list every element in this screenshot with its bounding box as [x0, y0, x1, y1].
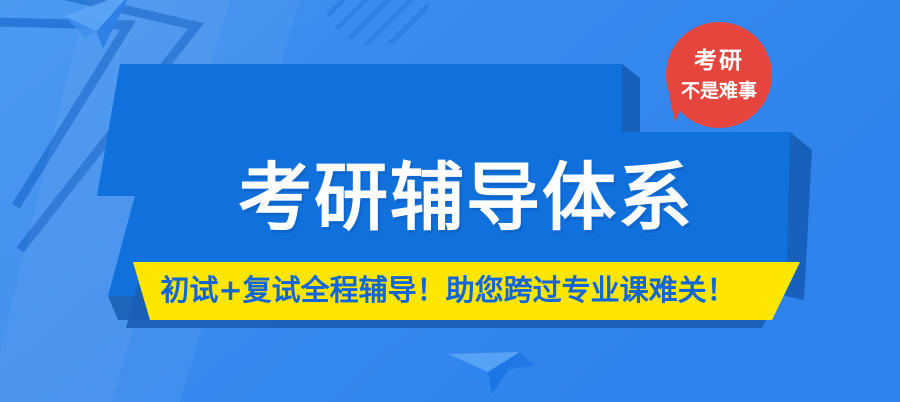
page-title: 考研辅导体系 [238, 161, 694, 235]
course-promo-banner: 考研辅导体系 初试+复试全程辅导！助您跨过专业课难关！ 考研 不是难事 [0, 0, 900, 402]
badge-line-1: 考研 [694, 50, 744, 73]
ribbon-text-container: 初试+复试全程辅导！助您跨过专业课难关！ [148, 268, 748, 312]
promo-badge: 考研 不是难事 [666, 22, 772, 128]
badge-line-2: 不是难事 [681, 82, 757, 101]
main-title-container: 考研辅导体系 [238, 152, 708, 244]
ribbon-subtitle: 初试+复试全程辅导！助您跨过专业课难关！ [160, 276, 735, 305]
badge-text-container: 考研 不是难事 [666, 22, 772, 128]
